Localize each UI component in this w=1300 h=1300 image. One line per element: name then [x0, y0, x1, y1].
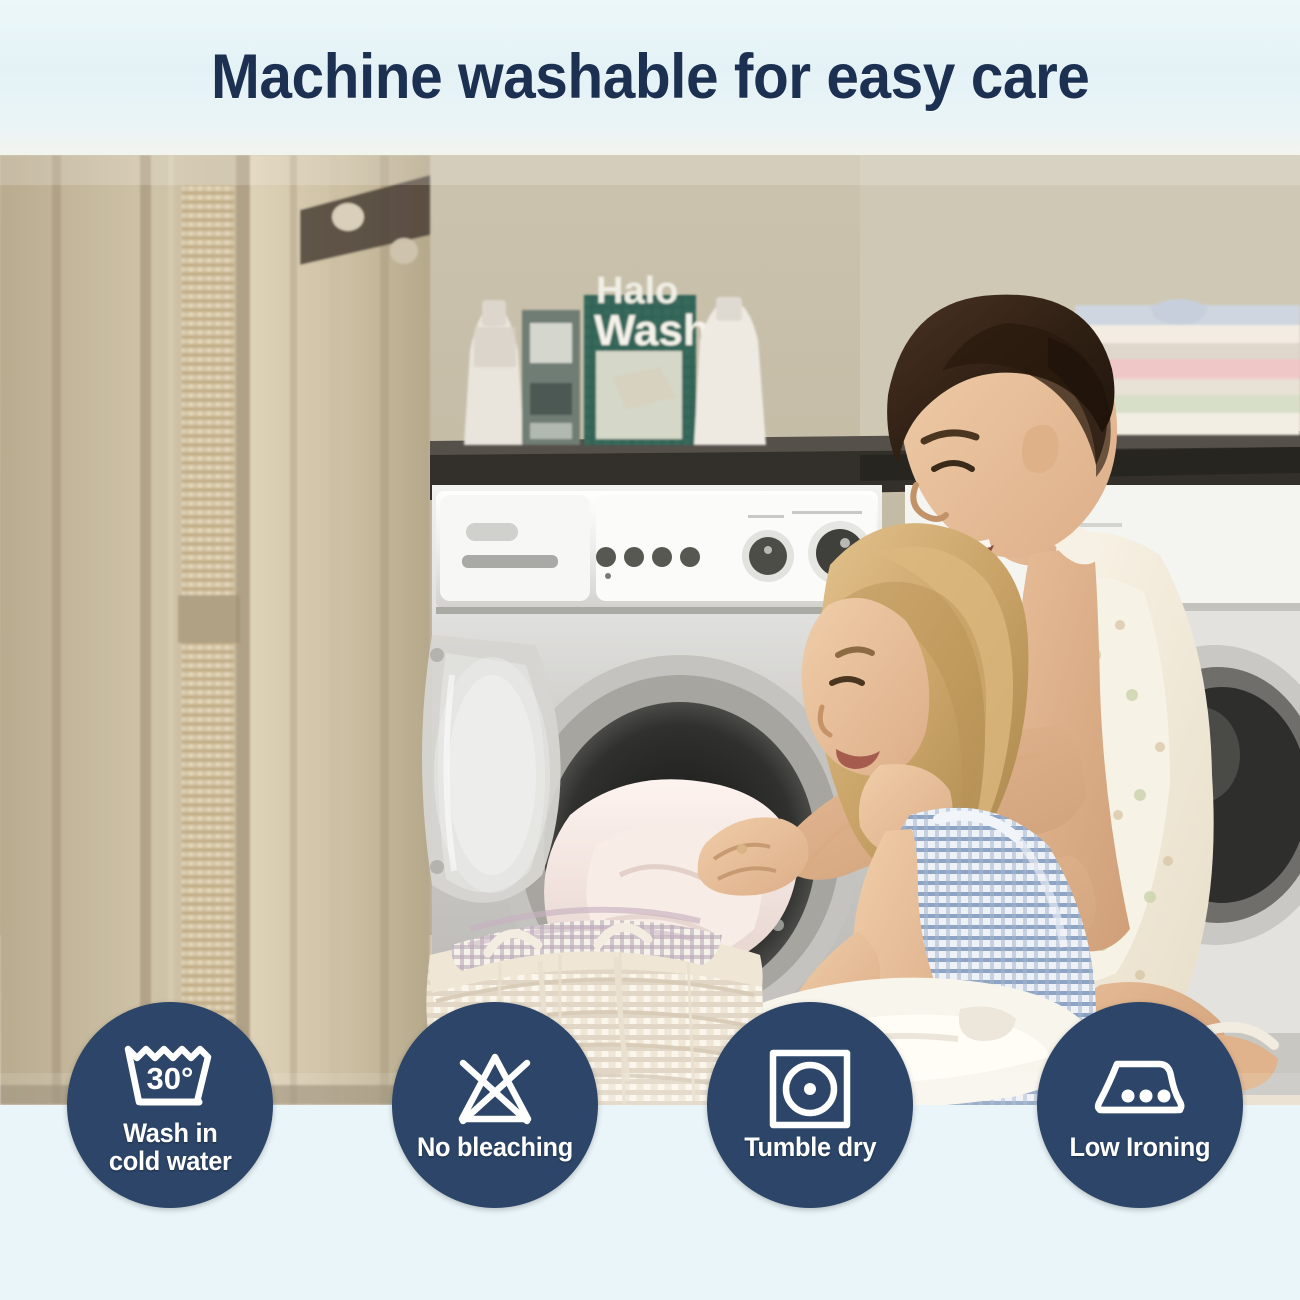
- badge-label: Wash in cold water: [103, 1119, 237, 1175]
- badge-label: Tumble dry: [738, 1133, 881, 1161]
- svg-text:30°: 30°: [147, 1061, 194, 1096]
- page-title: Machine washable for easy care: [211, 46, 1089, 109]
- svg-text:Wash: Wash: [594, 306, 710, 355]
- badge-label: Low Ironing: [1064, 1133, 1216, 1161]
- badge-low-ironing[interactable]: Low Ironing: [1037, 1002, 1243, 1208]
- no-bleach-triangle-icon: [447, 1049, 543, 1129]
- badge-label-line1: Wash in: [123, 1118, 217, 1148]
- badge-wash-cold-water[interactable]: 30° Wash in cold water: [67, 1002, 273, 1208]
- product-feature-poster: Machine washable for easy care: [0, 0, 1300, 1300]
- tumble-dry-icon: [762, 1049, 858, 1129]
- header-banner: Machine washable for easy care: [0, 0, 1300, 155]
- badge-no-bleaching[interactable]: No bleaching: [392, 1002, 598, 1208]
- iron-three-dots-icon: [1092, 1049, 1188, 1129]
- badge-label-line2: cold water: [109, 1146, 232, 1176]
- badge-tumble-dry[interactable]: Tumble dry: [707, 1002, 913, 1208]
- wash-tub-icon: 30°: [122, 1035, 218, 1115]
- badge-label: No bleaching: [411, 1133, 578, 1161]
- laundry-room-photo: Halo Wash: [0, 155, 1300, 1105]
